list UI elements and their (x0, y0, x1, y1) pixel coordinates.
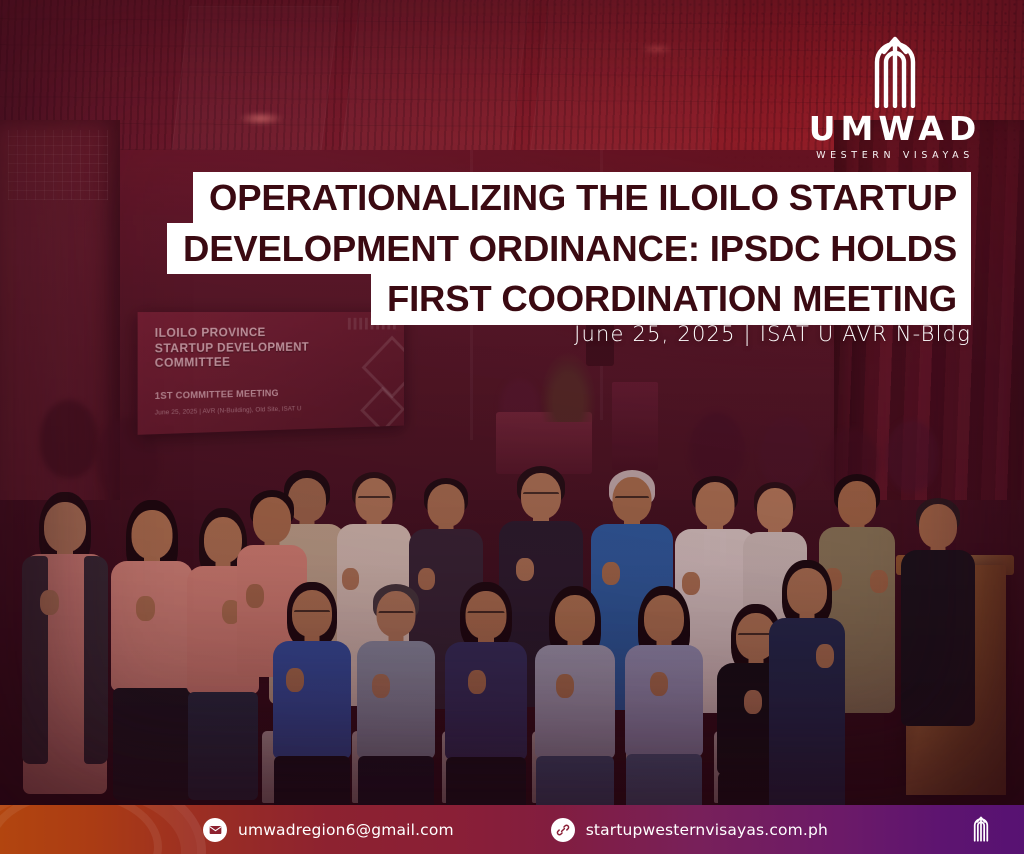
person-standing (768, 560, 846, 805)
person-seated (624, 586, 704, 805)
envelope-icon (203, 818, 227, 842)
person-seated (444, 582, 528, 805)
headline-line-2: DEVELOPMENT ORDINANCE: IPSDC HOLDS (167, 223, 971, 275)
screen-title-line3: COMMITTEE (155, 354, 350, 372)
jacket (22, 556, 48, 764)
poster-card: ILOILO PROVINCE STARTUP DEVELOPMENT COMM… (0, 0, 1024, 854)
person-standing (22, 492, 108, 802)
person-standing (110, 500, 194, 800)
trousers (113, 688, 191, 800)
background-person (40, 400, 98, 478)
headline-line-1: OPERATIONALIZING THE ILOILO STARTUP (193, 172, 971, 224)
jeans (536, 756, 614, 805)
background-person (760, 418, 814, 488)
wall-poster (612, 382, 658, 470)
person-standing (900, 498, 976, 728)
jeans (626, 754, 702, 805)
contact-website[interactable]: startupwesternvisayas.com.ph (551, 818, 828, 842)
website-text: startupwesternvisayas.com.ph (586, 821, 828, 839)
brand-tagline: WESTERN VISAYAS (800, 150, 990, 161)
trousers (358, 756, 434, 805)
brand-logo: UMWAD WESTERN VISAYAS (800, 28, 990, 161)
umwad-u-arrow-icon (966, 810, 996, 849)
email-text: umwadregion6@gmail.com (238, 821, 454, 839)
person-seated (356, 584, 436, 805)
headline: OPERATIONALIZING THE ILOILO STARTUP DEVE… (0, 172, 1024, 324)
ceiling-light (640, 44, 674, 54)
footer-bar: umwadregion6@gmail.com startupwesternvis… (0, 805, 1024, 854)
ceiling-panel (340, 0, 531, 162)
trousers (446, 757, 526, 805)
jacket (84, 556, 108, 764)
screen-footnote: June 25, 2025 | AVR (N-Building), Old Si… (155, 405, 302, 416)
person-seated (272, 582, 352, 805)
trousers (274, 756, 350, 805)
contact-email[interactable]: umwadregion6@gmail.com (203, 818, 454, 842)
headline-line-3: FIRST COORDINATION MEETING (371, 273, 971, 325)
potted-plant (540, 352, 596, 422)
link-chain-icon (551, 818, 575, 842)
ceiling-panel (530, 0, 730, 150)
screen-title: ILOILO PROVINCE STARTUP DEVELOPMENT COMM… (155, 326, 350, 373)
screen-subtitle: 1ST COMMITTEE MEETING (155, 388, 279, 401)
projector-screen: ILOILO PROVINCE STARTUP DEVELOPMENT COMM… (138, 312, 404, 435)
ceiling-panel (171, 6, 339, 156)
background-person (690, 412, 744, 484)
umwad-u-arrow-icon (800, 28, 990, 108)
ceiling-light (238, 112, 284, 125)
event-meta: June 25, 2025 | ISAT U AVR N-Bldg (574, 322, 971, 346)
brand-wordmark: UMWAD (800, 112, 990, 145)
person-seated (534, 586, 616, 805)
